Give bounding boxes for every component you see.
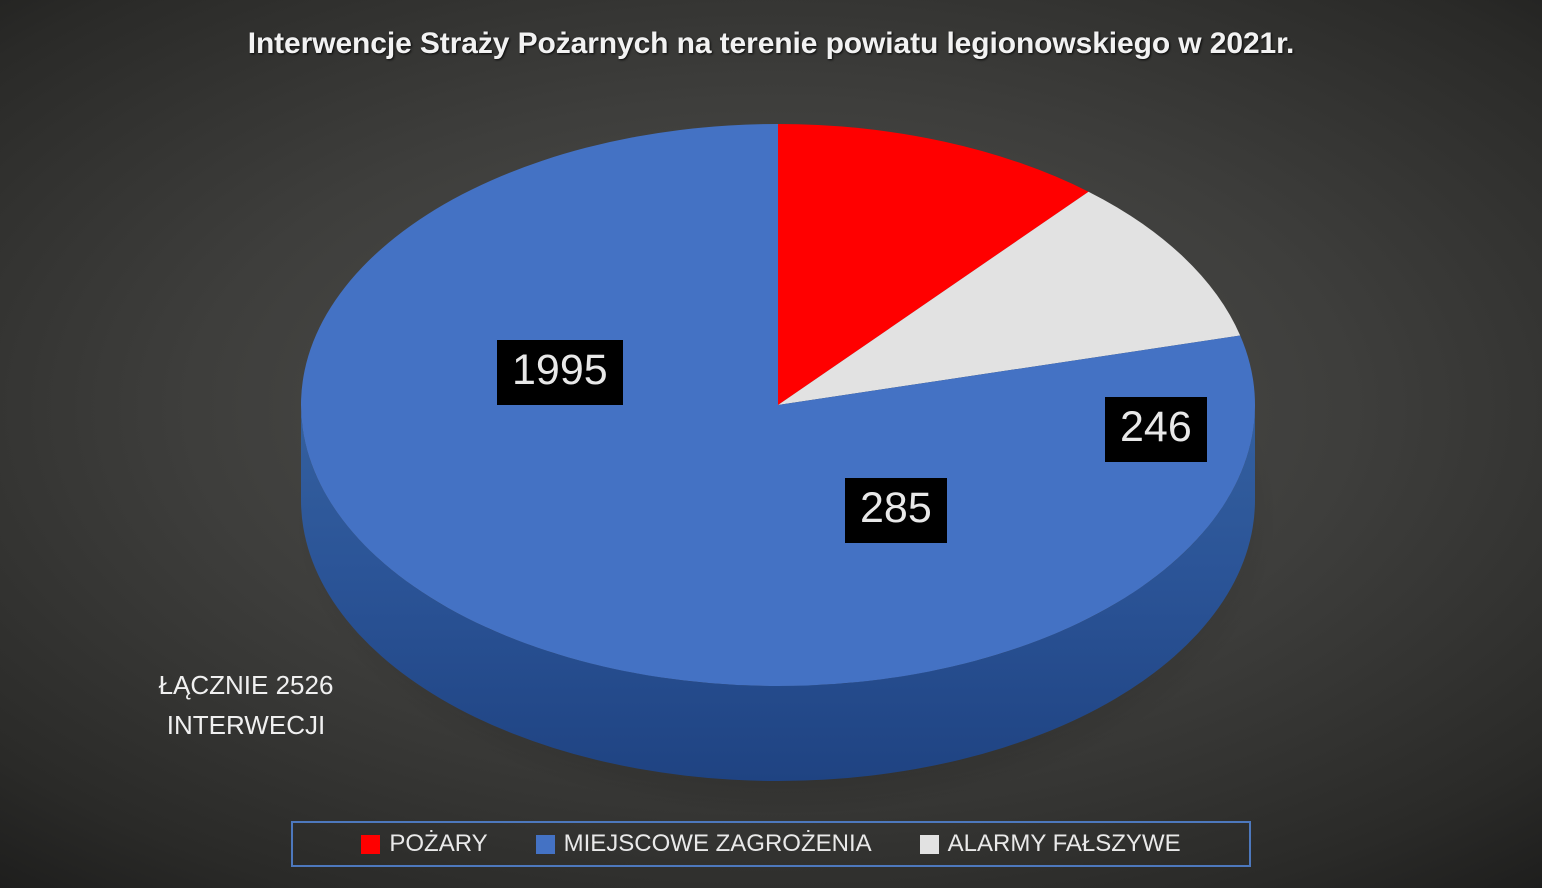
legend-label-miejscowe-zagrozenia: MIEJSCOWE ZAGROŻENIA: [564, 832, 872, 856]
chart-legend: POŻARY MIEJSCOWE ZAGROŻENIA ALARMY FAŁSZ…: [291, 821, 1251, 867]
slide-canvas: Interwencje Straży Pożarnych na terenie …: [0, 0, 1542, 888]
legend-label-pozary: POŻARY: [389, 832, 487, 856]
data-label-miejscowe-zagrozenia: 1995: [497, 340, 623, 405]
total-caption-line-1: ŁĄCZNIE 2526: [96, 665, 396, 705]
pie-chart-svg: [0, 0, 1542, 888]
legend-item-pozary[interactable]: POŻARY: [361, 832, 487, 856]
legend-swatch-alarmy-falszywe: [920, 835, 939, 854]
data-label-alarmy-falszywe: 246: [1105, 397, 1207, 462]
pie-chart: [0, 0, 1542, 888]
legend-swatch-pozary: [361, 835, 380, 854]
total-caption: ŁĄCZNIE 2526 INTERWECJI: [96, 665, 396, 746]
data-label-pozary: 285: [845, 478, 947, 543]
legend-item-alarmy-falszywe[interactable]: ALARMY FAŁSZYWE: [920, 832, 1181, 856]
legend-item-miejscowe-zagrozenia[interactable]: MIEJSCOWE ZAGROŻENIA: [536, 832, 872, 856]
total-caption-line-2: INTERWECJI: [96, 705, 396, 745]
legend-swatch-miejscowe-zagrozenia: [536, 835, 555, 854]
legend-label-alarmy-falszywe: ALARMY FAŁSZYWE: [948, 832, 1181, 856]
